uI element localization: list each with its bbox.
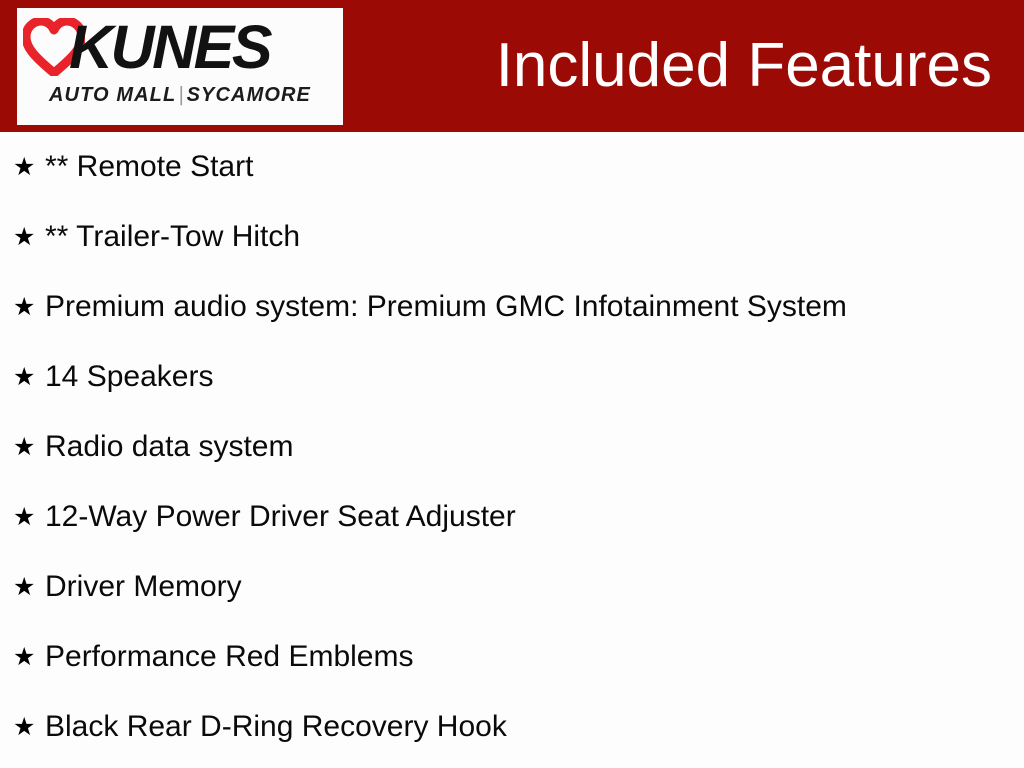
feature-list: ★** Remote Start★** Trailer-Tow Hitch★Pr… [0,132,1024,762]
star-icon: ★ [13,692,35,762]
star-icon: ★ [13,202,35,272]
page-title: Included Features [496,27,992,105]
feature-item: ★Premium audio system: Premium GMC Infot… [0,272,1024,342]
star-icon: ★ [13,622,35,692]
feature-item: ★Radio data system [0,412,1024,482]
logo-tagline-right: SYCAMORE [187,84,311,106]
feature-item: ★** Trailer-Tow Hitch [0,202,1024,272]
feature-label: Black Rear D-Ring Recovery Hook [45,710,507,744]
star-icon: ★ [13,552,35,622]
feature-label: 12-Way Power Driver Seat Adjuster [45,500,516,534]
feature-slide: KUNES AUTO MALL|SYCAMORE Included Featur… [0,0,1024,768]
feature-item: ★Driver Memory [0,552,1024,622]
star-icon: ★ [13,272,35,342]
feature-item: ★Black Rear D-Ring Recovery Hook [0,692,1024,762]
header-banner: KUNES AUTO MALL|SYCAMORE Included Featur… [0,0,1024,132]
logo-mark: KUNES [17,10,343,82]
feature-item: ★** Remote Start [0,132,1024,202]
feature-label: Performance Red Emblems [45,640,413,674]
logo-tagline: AUTO MALL|SYCAMORE [17,84,343,107]
logo-tagline-divider: | [176,84,186,106]
feature-label: 14 Speakers [45,360,213,394]
feature-label: Radio data system [45,430,293,464]
star-icon: ★ [13,482,35,552]
star-icon: ★ [13,132,35,202]
feature-item: ★12-Way Power Driver Seat Adjuster [0,482,1024,552]
dealer-logo: KUNES AUTO MALL|SYCAMORE [17,8,343,125]
logo-tagline-left: AUTO MALL [49,84,176,106]
feature-item: ★Performance Red Emblems [0,622,1024,692]
feature-label: ** Remote Start [45,150,253,184]
feature-label: Driver Memory [45,570,242,604]
logo-wordmark: KUNES [69,12,341,82]
feature-item: ★14 Speakers [0,342,1024,412]
star-icon: ★ [13,412,35,482]
feature-label: Premium audio system: Premium GMC Infota… [45,290,847,324]
star-icon: ★ [13,342,35,412]
feature-label: ** Trailer-Tow Hitch [45,220,300,254]
